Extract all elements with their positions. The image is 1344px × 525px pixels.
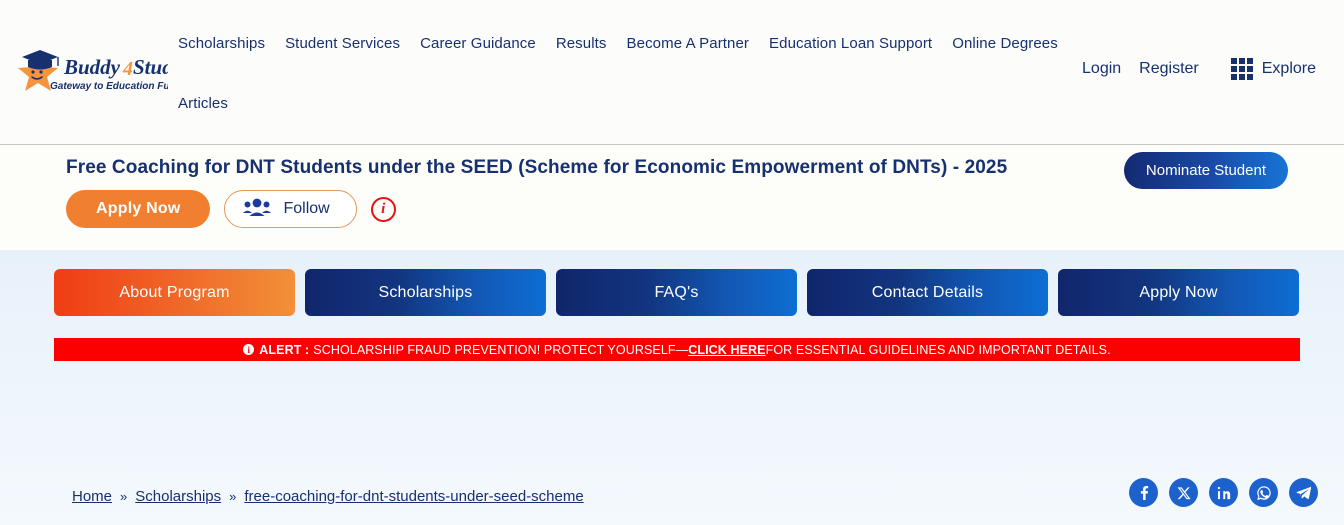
linkedin-icon[interactable] [1209, 478, 1238, 507]
nav-row-primary: Scholarships Student Services Career Gui… [168, 28, 1068, 59]
svg-text:Gateway to Education Funding: Gateway to Education Funding [50, 81, 168, 92]
program-content-area: About Program Scholarships FAQ's Contact… [0, 250, 1344, 525]
nav-item-results[interactable]: Results [546, 28, 617, 59]
nav-item-scholarships[interactable]: Scholarships [168, 28, 275, 59]
x-twitter-icon[interactable] [1169, 478, 1198, 507]
alert-click-here-link[interactable]: CLICK HERE [688, 343, 765, 357]
explore-label: Explore [1262, 60, 1316, 78]
follow-label: Follow [283, 200, 329, 218]
breadcrumb-item-scholarships[interactable]: Scholarships [135, 488, 221, 505]
whatsapp-icon[interactable] [1249, 478, 1278, 507]
alert-text-before: SCHOLARSHIP FRAUD PREVENTION! PROTECT YO… [313, 343, 688, 357]
follow-button[interactable]: Follow [224, 190, 356, 228]
nav-item-student-services[interactable]: Student Services [275, 28, 410, 59]
site-header: Buddy 4 Study Gateway to Education Fundi… [0, 0, 1344, 145]
page-root: Buddy 4 Study Gateway to Education Fundi… [0, 0, 1344, 525]
info-circle-icon[interactable]: i [371, 197, 396, 222]
tab-contact-details[interactable]: Contact Details [807, 269, 1048, 316]
tab-scholarships[interactable]: Scholarships [305, 269, 546, 316]
telegram-icon[interactable] [1289, 478, 1318, 507]
program-tabs: About Program Scholarships FAQ's Contact… [54, 269, 1299, 316]
grid-apps-icon [1231, 58, 1253, 80]
tab-faqs[interactable]: FAQ's [556, 269, 797, 316]
breadcrumb-separator: » [120, 489, 127, 504]
header-actions: Login Register Explore [1082, 58, 1316, 80]
alert-info-icon: i [243, 344, 254, 355]
breadcrumb-item-home[interactable]: Home [72, 488, 112, 505]
nav-item-articles[interactable]: Articles [168, 88, 238, 119]
svg-text:Study: Study [133, 55, 168, 79]
alert-label: ALERT : [259, 343, 309, 357]
breadcrumb-item-current[interactable]: free-coaching-for-dnt-students-under-see… [244, 488, 583, 505]
people-group-icon [243, 197, 271, 222]
nav-item-education-loan-support[interactable]: Education Loan Support [759, 28, 942, 59]
register-link[interactable]: Register [1139, 60, 1199, 78]
svg-text:4: 4 [122, 58, 133, 80]
alert-text-after: FOR ESSENTIAL GUIDELINES AND IMPORTANT D… [766, 343, 1111, 357]
program-cta-row: Apply Now Follow i [66, 190, 396, 228]
fraud-alert-banner: i ALERT : SCHOLARSHIP FRAUD PREVENTION! … [54, 338, 1300, 361]
breadcrumb: Home » Scholarships » free-coaching-for-… [72, 488, 584, 505]
apply-now-button[interactable]: Apply Now [66, 190, 210, 228]
nav-item-online-degrees[interactable]: Online Degrees [942, 28, 1068, 59]
login-link[interactable]: Login [1082, 60, 1121, 78]
explore-button[interactable]: Explore [1231, 58, 1316, 80]
site-logo[interactable]: Buddy 4 Study Gateway to Education Fundi… [8, 36, 168, 98]
nav-item-become-a-partner[interactable]: Become A Partner [617, 28, 760, 59]
nominate-student-button[interactable]: Nominate Student [1124, 152, 1288, 189]
nav-row-secondary: Articles [168, 88, 1068, 119]
tab-about-program[interactable]: About Program [54, 269, 295, 316]
nav-item-career-guidance[interactable]: Career Guidance [410, 28, 546, 59]
breadcrumb-separator: » [229, 489, 236, 504]
page-title: Free Coaching for DNT Students under the… [66, 157, 1007, 179]
svg-text:Buddy: Buddy [63, 55, 121, 79]
tab-apply-now[interactable]: Apply Now [1058, 269, 1299, 316]
facebook-icon[interactable] [1129, 478, 1158, 507]
logo-artwork: Buddy 4 Study Gateway to Education Fundi… [8, 36, 168, 98]
social-share-bar [1129, 478, 1318, 507]
program-title-band: Free Coaching for DNT Students under the… [0, 145, 1344, 250]
primary-nav: Scholarships Student Services Career Gui… [168, 28, 1068, 119]
